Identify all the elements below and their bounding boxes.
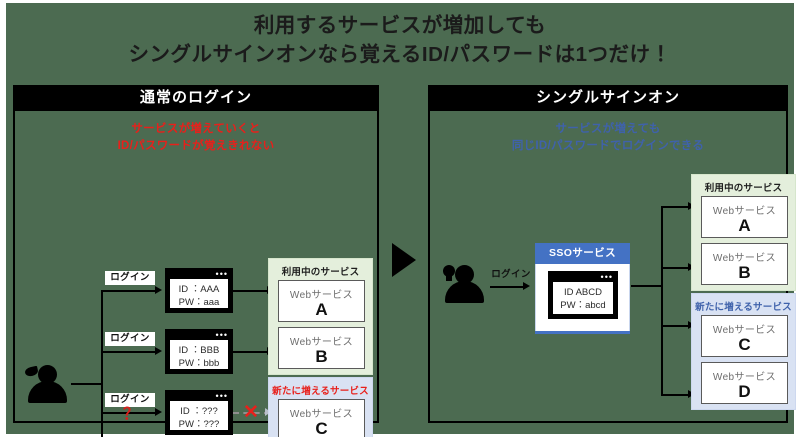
panel-right-header: シングルサインオン <box>428 85 788 111</box>
sso-bus-line-h <box>631 285 663 287</box>
service-a-big-left: A <box>279 300 364 320</box>
sso-bus-line-v <box>661 206 663 396</box>
panel-normal-login: 通常のログイン サービスが増えていくと ID/パスワードが覚えきれない <box>13 85 379 423</box>
service-c-small-right: Webサービス <box>702 321 787 336</box>
sso-window-dots: ••• <box>601 273 613 281</box>
service-box-b-left[interactable]: Webサービス B <box>278 327 365 369</box>
group-current-title-right: 利用中のサービス <box>692 180 795 194</box>
group-new-title-right: 新たに増えるサービス <box>692 299 795 313</box>
sso-service-block[interactable]: SSOサービス ••• ID ABCD PW：abcd <box>535 243 630 334</box>
sso-credential-pw: PW：abcd <box>553 300 613 313</box>
sso-login-arrow <box>523 282 530 290</box>
sso-login-line <box>490 286 526 288</box>
lead-right-line-1: サービスが増えても <box>430 121 786 138</box>
sso-bottom-bar <box>535 331 630 334</box>
page-title: 利用するサービスが増加しても シングルサインオンなら覚えるID/パスワードは1つ… <box>6 11 794 69</box>
sso-branch-c <box>661 325 691 327</box>
credential-window-3: ••• ID ：??? PW：??? <box>165 390 233 435</box>
lead-right-line-2: 同じID/パスワードでログインできる <box>430 138 786 155</box>
sso-branch-a <box>661 206 691 208</box>
sso-service-header: SSOサービス <box>535 243 630 264</box>
panel-right-lead: サービスが増えても 同じID/パスワードでログインできる <box>430 121 786 154</box>
service-box-c-left[interactable]: Webサービス C <box>278 399 365 437</box>
diagram-stage: 利用するサービスが増加しても シングルサインオンなら覚えるID/パスワードは1つ… <box>6 3 794 434</box>
login-chip-sso[interactable]: ログイン <box>490 268 532 282</box>
panel-single-sign-on: シングルサインオン サービスが増えても 同じID/パスワードでログインできる ロ… <box>428 85 788 423</box>
service-box-c-right[interactable]: Webサービス C <box>701 315 788 357</box>
credential-pw-1: PW：aaa <box>170 297 228 310</box>
window-dots-1: ••• <box>216 270 228 278</box>
sso-branch-d <box>661 394 691 396</box>
service-d-big-right: D <box>702 382 787 402</box>
credential-id-2: ID ：BBB <box>170 345 228 358</box>
credential-pw-3: PW：??? <box>170 419 228 432</box>
service-b-big-left: B <box>279 347 364 367</box>
panel-left-header: 通常のログイン <box>13 85 379 111</box>
credential-window-1: ••• ID ：AAA PW：aaa <box>165 268 233 313</box>
service-b-small-left: Webサービス <box>279 333 364 348</box>
person-body-right <box>445 281 484 303</box>
sso-credential-id: ID ABCD <box>553 287 613 300</box>
sweat-drop-icon <box>24 366 39 378</box>
trunk-line-h <box>71 383 103 385</box>
credential-id-1: ID ：AAA <box>170 284 228 297</box>
window-dots-3: ••• <box>216 392 228 400</box>
group-current-services-left: 利用中のサービス Webサービス A Webサービス B <box>268 258 373 375</box>
service-b-small-right: Webサービス <box>702 249 787 264</box>
credential-screen-1: ID ：AAA PW：aaa <box>170 279 228 308</box>
service-a-big-right: A <box>702 216 787 236</box>
panel-left-lead: サービスが増えていくと ID/パスワードが覚えきれない <box>15 121 377 154</box>
branch-line-1 <box>101 290 157 292</box>
idea-person-icon <box>442 265 488 305</box>
diagram-canvas: 利用するサービスが増加しても シングルサインオンなら覚えるID/パスワードは1つ… <box>0 0 800 437</box>
service-line-b <box>233 351 270 353</box>
sso-credential-window: ••• ID ABCD PW：abcd <box>548 271 618 319</box>
group-new-services-right: 新たに増えるサービス Webサービス C Webサービス D <box>691 293 796 410</box>
service-a-small-right: Webサービス <box>702 202 787 217</box>
right-arrow-icon <box>392 243 416 277</box>
branch-line-2 <box>101 351 157 353</box>
credential-pw-2: PW：bbb <box>170 358 228 371</box>
title-line-2: シングルサインオンなら覚えるID/パスワードは1つだけ！ <box>6 40 794 69</box>
window-dots-2: ••• <box>216 331 228 339</box>
credential-screen-2: ID ：BBB PW：bbb <box>170 340 228 369</box>
lead-left-line-2: ID/パスワードが覚えきれない <box>15 138 377 155</box>
group-new-title-left: 新たに増えるサービス <box>269 383 372 397</box>
login-chip-1[interactable]: ログイン <box>105 271 155 285</box>
service-box-d-right[interactable]: Webサービス D <box>701 362 788 404</box>
service-c-big-left: C <box>279 419 364 437</box>
branch-arrow-2 <box>155 347 162 355</box>
credential-id-3: ID ：??? <box>170 406 228 419</box>
service-box-b-right[interactable]: Webサービス B <box>701 243 788 285</box>
service-c-big-right: C <box>702 335 787 355</box>
branch-arrow-3 <box>155 408 162 416</box>
worried-person-icon <box>25 365 71 405</box>
group-current-title-left: 利用中のサービス <box>269 264 372 278</box>
service-d-small-right: Webサービス <box>702 368 787 383</box>
login-chip-2[interactable]: ログイン <box>105 332 155 346</box>
question-mark-3: ？ <box>123 407 139 423</box>
sso-branch-b <box>661 267 691 269</box>
service-c-small-left: Webサービス <box>279 405 364 420</box>
lead-left-line-1: サービスが増えていくと <box>15 121 377 138</box>
service-box-a-right[interactable]: Webサービス A <box>701 196 788 238</box>
group-new-services-left: 新たに増えるサービス Webサービス C Webサービス D <box>268 377 373 437</box>
credential-screen-3: ID ：??? PW：??? <box>170 401 228 430</box>
group-current-services-right: 利用中のサービス Webサービス A Webサービス B <box>691 174 796 291</box>
block-mark-c: ✕ <box>243 403 259 422</box>
lightbulb-base <box>446 275 452 281</box>
title-line-1: 利用するサービスが増加しても <box>254 14 546 37</box>
service-a-small-left: Webサービス <box>279 286 364 301</box>
branch-arrow-1 <box>155 286 162 294</box>
service-line-a <box>233 290 270 292</box>
trunk-line-v <box>101 290 103 437</box>
sso-credential-screen: ID ABCD PW：abcd <box>553 282 613 314</box>
service-b-big-right: B <box>702 263 787 283</box>
credential-window-2: ••• ID ：BBB PW：bbb <box>165 329 233 374</box>
login-chip-3[interactable]: ログイン <box>105 393 155 407</box>
person-body <box>28 381 67 403</box>
service-box-a-left[interactable]: Webサービス A <box>278 280 365 322</box>
